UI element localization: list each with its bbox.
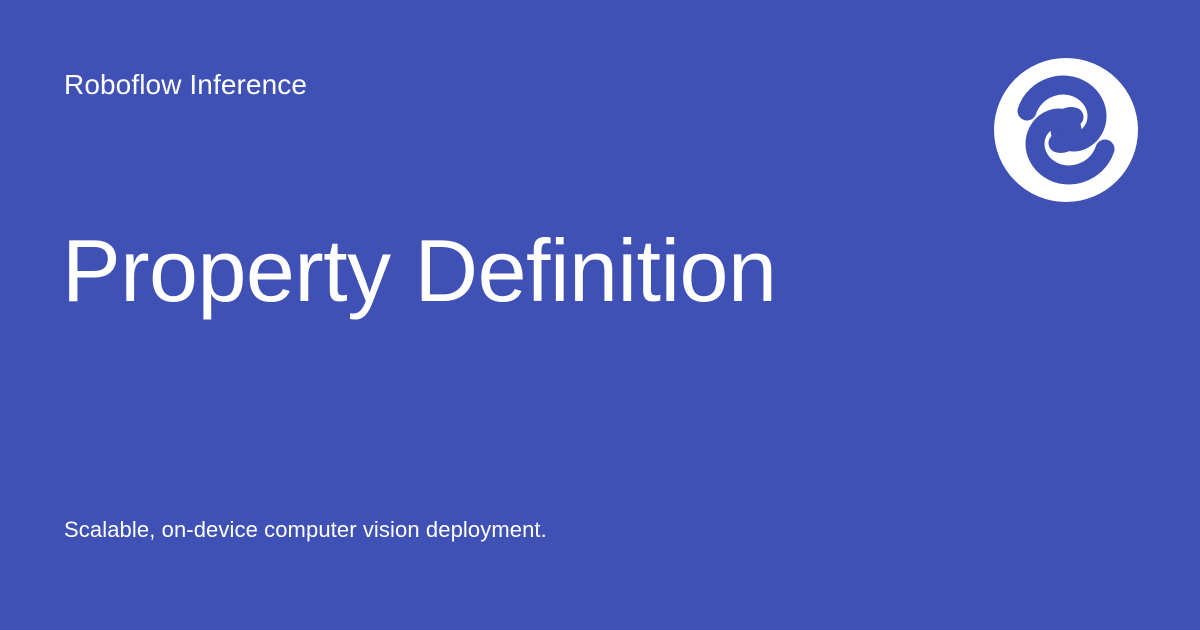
product-name: Roboflow Inference xyxy=(64,68,307,102)
page-title: Property Definition xyxy=(62,223,776,319)
tagline: Scalable, on-device computer vision depl… xyxy=(64,516,547,544)
roboflow-logo-icon xyxy=(994,58,1138,202)
social-card: Roboflow Inference Property Definition S… xyxy=(0,0,1200,630)
